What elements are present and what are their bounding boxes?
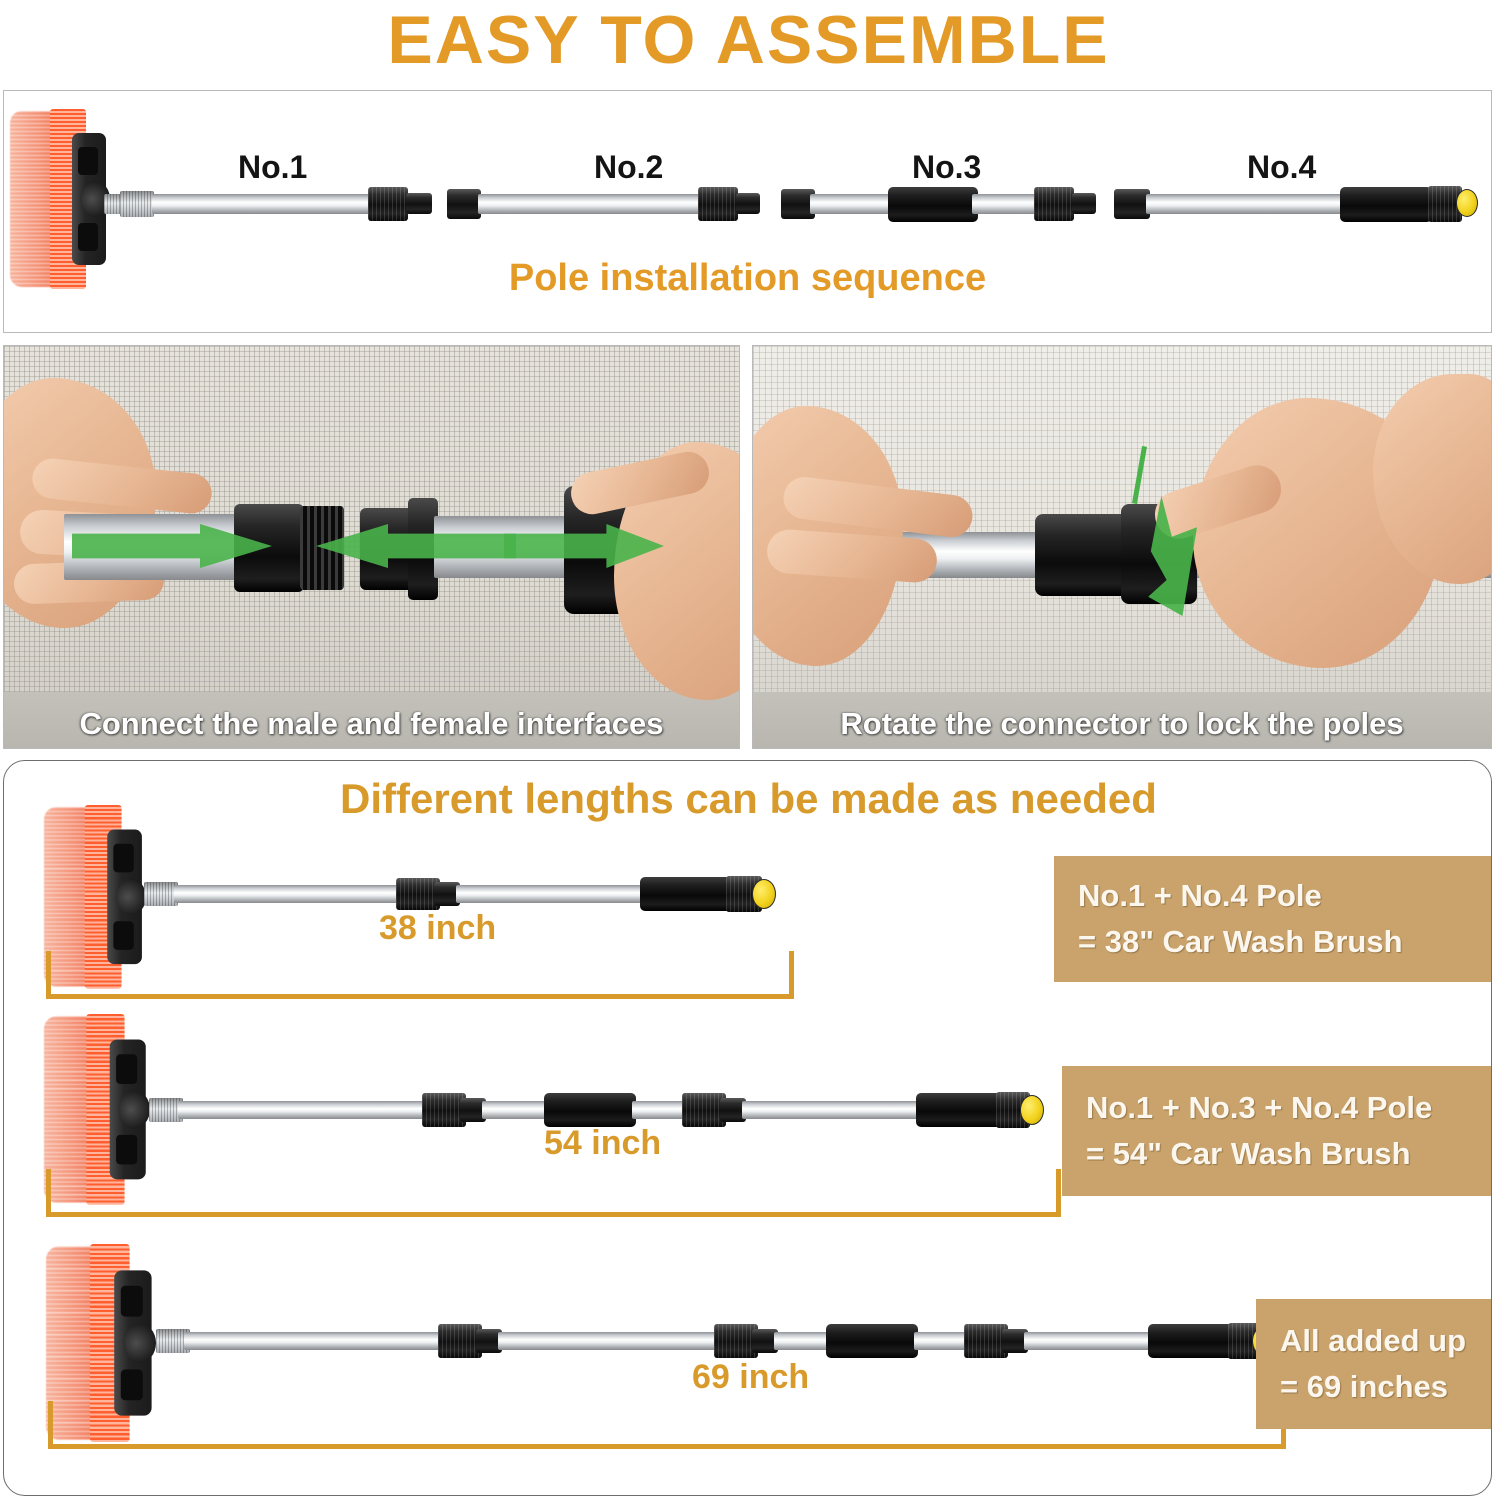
pole3-foam-grip [888, 187, 978, 222]
sequence-caption: Pole installation sequence [4, 257, 1491, 300]
pole-tube-4 [1146, 194, 1346, 214]
config-box-38: No.1 + No.4 Pole = 38" Car Wash Brush [1054, 856, 1492, 982]
row3-tube-a [184, 1332, 442, 1350]
pole-label-3: No.3 [912, 149, 981, 186]
pole-label-4: No.4 [1247, 149, 1316, 186]
pole-label-1: No.1 [238, 149, 307, 186]
row2-tube-b [482, 1101, 548, 1119]
yellow-knob-icon [752, 879, 776, 909]
connector-sleeve [1035, 514, 1135, 596]
pole-tube-3a [810, 194, 892, 214]
pole1-ferrule [120, 191, 154, 217]
yellow-knob-icon [1020, 1095, 1044, 1125]
measure-bracket-69 [48, 1401, 1286, 1449]
config-box-54-line1: No.1 + No.3 + No.4 Pole [1086, 1085, 1492, 1131]
step-photo-rotate: Rotate the connector to lock the poles [752, 345, 1492, 749]
row3-foam-grip [826, 1324, 918, 1358]
pole2-lock-collar [698, 187, 738, 221]
pole-label-2: No.2 [594, 149, 663, 186]
row3-tube-b [498, 1332, 720, 1350]
pole3-lock-collar [1034, 187, 1074, 221]
step-photo-connect: Connect the male and female interfaces [3, 345, 740, 749]
pole4-female-end [1114, 189, 1150, 219]
config-box-69: All added up = 69 inches [1256, 1299, 1492, 1429]
pole-tube-2 [478, 194, 700, 214]
length-label-38: 38 inch [379, 909, 496, 948]
config-box-69-line2: = 69 inches [1280, 1364, 1492, 1410]
row3-foam-grip-2 [1148, 1324, 1234, 1358]
row2-tube-a [178, 1101, 426, 1119]
config-box-38-line1: No.1 + No.4 Pole [1078, 873, 1492, 919]
photo-caption-connect: Connect the male and female interfaces [4, 706, 739, 742]
measure-bracket-38 [46, 951, 794, 999]
page-title: EASY TO ASSEMBLE [0, 2, 1497, 78]
pole3-male-end [1072, 193, 1096, 214]
pole1-male-end [406, 193, 432, 214]
row2-foam-grip-2 [916, 1093, 1002, 1127]
row1-foam-grip [640, 877, 732, 911]
photo-caption-rotate: Rotate the connector to lock the poles [753, 706, 1491, 742]
length-label-69: 69 inch [692, 1358, 809, 1397]
length-label-54: 54 inch [544, 1124, 661, 1163]
config-box-69-line1: All added up [1280, 1318, 1492, 1364]
config-box-38-line2: = 38" Car Wash Brush [1078, 919, 1492, 965]
row1-tube-a [174, 885, 398, 903]
pole2-female-end [447, 189, 481, 219]
brush-hub [118, 1090, 150, 1128]
pole2-male-end [736, 193, 760, 214]
brush-hub [123, 1323, 156, 1363]
row2-foam-grip [544, 1093, 636, 1127]
config-box-54-line2: = 54" Car Wash Brush [1086, 1131, 1492, 1177]
brush-hub [115, 878, 146, 915]
lengths-title: Different lengths can be made as needed [4, 775, 1492, 823]
row3-tube-e [1024, 1332, 1154, 1350]
row1-tube-b [456, 885, 646, 903]
row3-tube-d [914, 1332, 970, 1350]
pole-tube-1 [152, 194, 372, 214]
measure-bracket-54 [46, 1169, 1061, 1217]
row2-tube-c [632, 1101, 688, 1119]
pole-tube-3b [972, 194, 1040, 214]
row3-tube-c [774, 1332, 830, 1350]
row2-tube-d [742, 1101, 922, 1119]
config-box-54: No.1 + No.3 + No.4 Pole = 54" Car Wash B… [1062, 1066, 1492, 1196]
yellow-knob-icon [1456, 189, 1478, 217]
pole1-lock-collar [368, 187, 408, 221]
pole-sequence-panel: No.1 No.2 No.3 No.4 Pole installation se… [3, 90, 1492, 333]
row1-ferrule [144, 882, 178, 906]
pole4-foam-grip [1340, 187, 1432, 222]
lengths-panel: Different lengths can be made as needed … [3, 760, 1492, 1496]
